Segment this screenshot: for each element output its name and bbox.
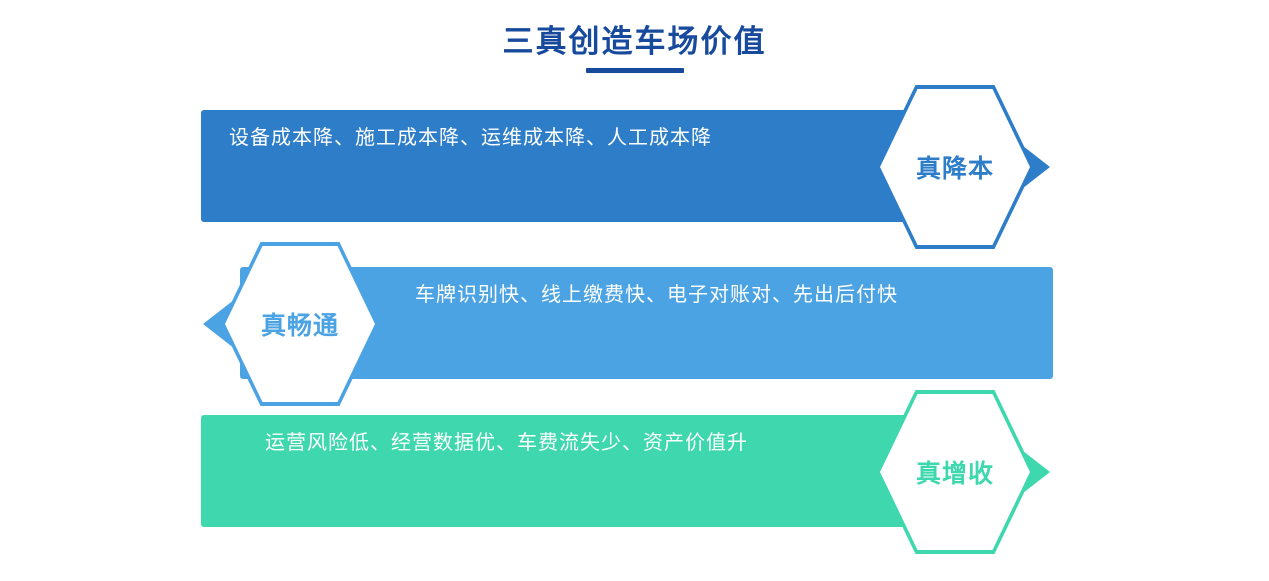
title-underline-divider	[586, 68, 684, 73]
badge-hexagon-zhenchangtong[interactable]: 真畅通	[203, 239, 387, 409]
value-bar-text: 车牌识别快、线上缴费快、电子对账对、先出后付快	[415, 239, 898, 351]
badge-hexagon-face: 真降本	[876, 85, 1034, 249]
page-title: 三真创造车场价值	[0, 22, 1269, 62]
badge-label: 真增收	[916, 454, 994, 490]
badge-hexagon-zhenjiangben[interactable]: 真降本	[866, 82, 1050, 252]
title-block: 三真创造车场价值	[0, 22, 1269, 73]
value-bar-text: 运营风险低、经营数据优、车费流失少、资产价值升	[265, 387, 748, 499]
badge-hexagon-face: 真增收	[876, 390, 1034, 554]
value-row-zhenjiangben: 设备成本降、施工成本降、运维成本降、人工成本降 真降本	[0, 82, 1269, 252]
badge-hexagon-zhenzengshou[interactable]: 真增收	[866, 387, 1050, 557]
badge-label: 真降本	[916, 149, 994, 185]
value-row-zhenchangtong: 车牌识别快、线上缴费快、电子对账对、先出后付快 真畅通	[0, 239, 1269, 409]
badge-label: 真畅通	[261, 306, 339, 342]
slide-canvas: 三真创造车场价值 设备成本降、施工成本降、运维成本降、人工成本降 真降本 车牌识…	[0, 0, 1269, 581]
value-row-zhenzengshou: 运营风险低、经营数据优、车费流失少、资产价值升 真增收	[0, 387, 1269, 557]
badge-hexagon-face: 真畅通	[221, 242, 379, 406]
value-bar-text: 设备成本降、施工成本降、运维成本降、人工成本降	[229, 82, 712, 194]
